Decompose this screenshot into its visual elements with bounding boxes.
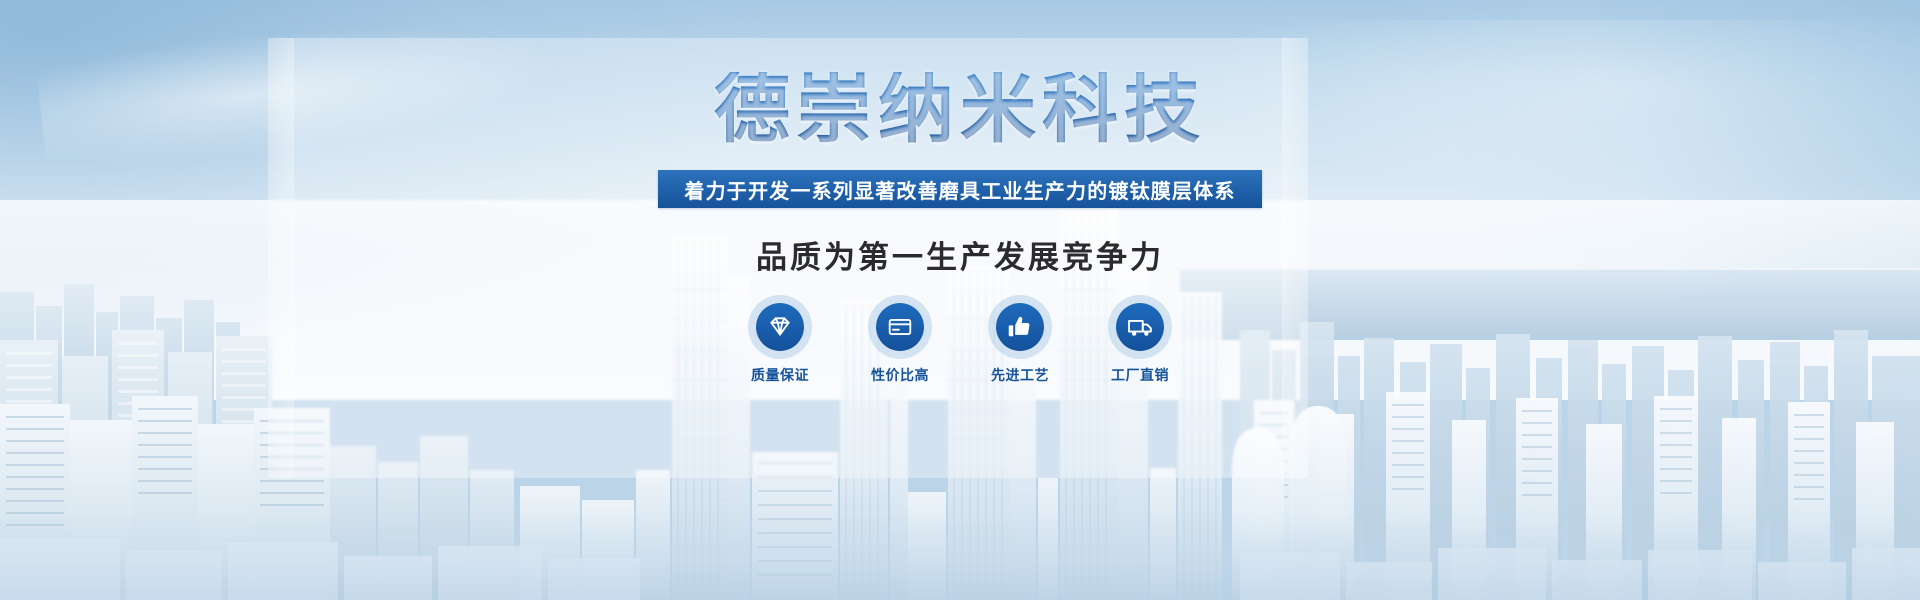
feature-item-process[interactable]: 先进工艺 (980, 303, 1060, 385)
thumbs-up-icon (996, 303, 1044, 351)
truck-icon (1116, 303, 1164, 351)
subtitle-text: 着力于开发一系列显著改善磨具工业生产力的镀钛膜层体系 (684, 175, 1235, 204)
company-title: 德崇纳米科技 (714, 72, 1206, 148)
feature-label-factory-direct: 工厂直销 (1111, 365, 1169, 385)
subtitle-banner-bar: 着力于开发一系列显著改善磨具工业生产力的镀钛膜层体系 (658, 170, 1261, 208)
hero-banner: 德崇纳米科技 着力于开发一系列显著改善磨具工业生产力的镀钛膜层体系 品质为第一生… (0, 0, 1920, 600)
feature-label-process: 先进工艺 (991, 365, 1049, 385)
feature-list: 质量保证 性价比高 (740, 303, 1180, 385)
feature-item-value[interactable]: 性价比高 (860, 303, 940, 385)
feature-item-quality[interactable]: 质量保证 (740, 303, 820, 385)
banner-content: 德崇纳米科技 着力于开发一系列显著改善磨具工业生产力的镀钛膜层体系 品质为第一生… (0, 0, 1920, 600)
diamond-icon (756, 303, 804, 351)
feature-item-factory-direct[interactable]: 工厂直销 (1100, 303, 1180, 385)
feature-label-quality: 质量保证 (751, 365, 809, 385)
card-icon (876, 303, 924, 351)
tagline-text: 品质为第一生产发展竞争力 (756, 232, 1164, 277)
feature-label-value: 性价比高 (871, 365, 929, 385)
